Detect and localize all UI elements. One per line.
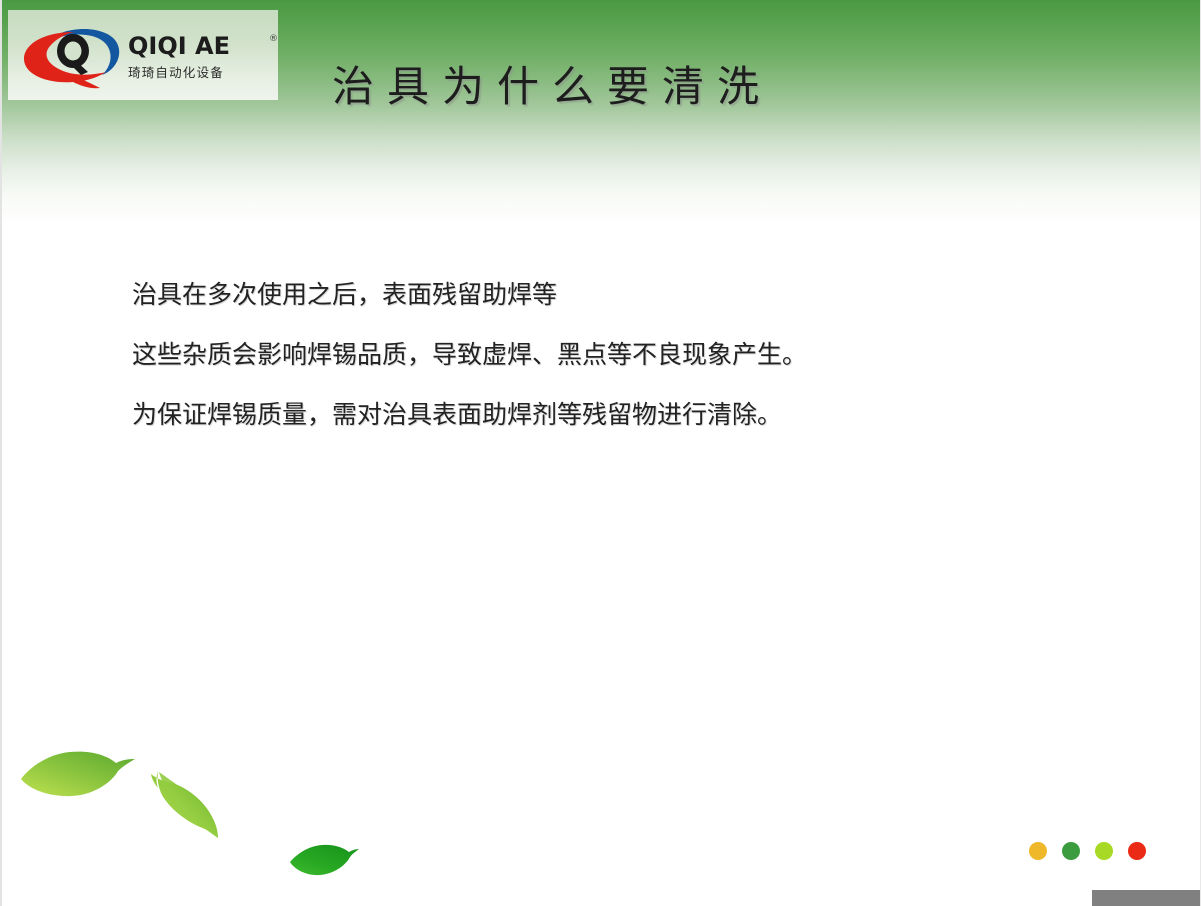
logo-wordmark: QIQI AE — [128, 34, 278, 58]
body-line-1: 治具在多次使用之后，表面残留助焊等 — [132, 265, 1112, 325]
body-line-3: 为保证焊锡质量，需对治具表面助焊剂等残留物进行清除。 — [132, 385, 1112, 445]
bottom-accent-bar — [1092, 890, 1201, 906]
leaf-large-light-icon — [18, 738, 138, 815]
dot-amber-icon — [1029, 842, 1047, 860]
leaf-small-dark-icon — [288, 840, 360, 885]
page-title: 治具为什么要清洗 — [332, 66, 772, 108]
presentation-slide: QIQI AE ® 琦琦自动化设备 治具为什么要清洗 治具在多次使用之后，表面残… — [0, 0, 1201, 906]
dot-red-icon — [1128, 842, 1146, 860]
dot-green-icon — [1062, 842, 1080, 860]
leaf-medium-lime-icon — [150, 765, 236, 850]
company-logo-box: QIQI AE ® 琦琦自动化设备 — [8, 10, 278, 100]
body-text-block: 治具在多次使用之后，表面残留助焊等 这些杂质会影响焊锡品质，导致虚焊、黑点等不良… — [132, 265, 1112, 445]
decorative-dot-row — [1029, 842, 1146, 860]
logo-subtitle: 琦琦自动化设备 — [128, 62, 278, 81]
body-line-2: 这些杂质会影响焊锡品质，导致虚焊、黑点等不良现象产生。 — [132, 325, 1112, 385]
registered-trademark-icon: ® — [269, 34, 278, 44]
logo-text-block: QIQI AE ® 琦琦自动化设备 — [128, 34, 278, 88]
dot-lime-icon — [1095, 842, 1113, 860]
qiqi-logo-mark-icon — [18, 20, 126, 92]
